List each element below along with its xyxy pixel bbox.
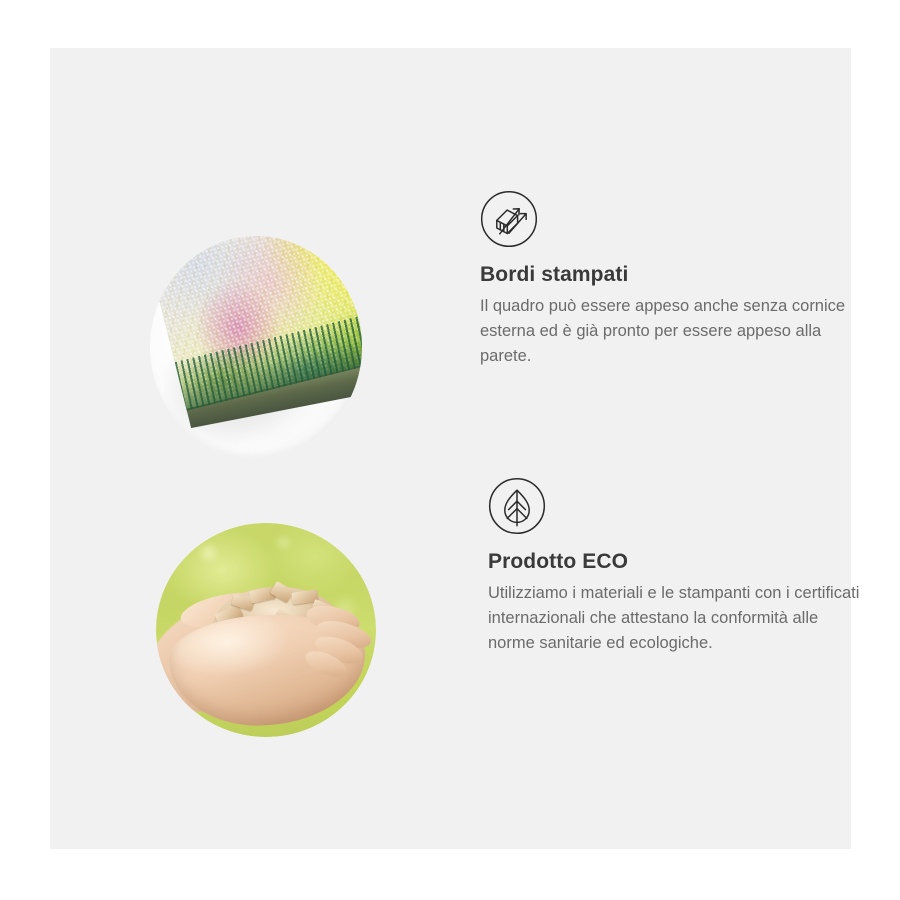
page-root: Bordi stampati Il quadro può essere appe… <box>0 0 900 900</box>
feature-title-printed-edges: Bordi stampati <box>480 262 852 287</box>
eco-wood-chips-image <box>156 523 376 737</box>
feature-text-column-eco-product: Prodotto ECO Utilizziamo i materiali e l… <box>488 477 860 656</box>
canvas-wrapped-edge-icon <box>480 190 538 248</box>
leaf-icon <box>488 477 546 535</box>
feature-block-eco-product: Prodotto ECO Utilizziamo i materiali e l… <box>153 477 860 737</box>
feature-title-eco-product: Prodotto ECO <box>488 549 860 574</box>
feature-description-printed-edges: Il quadro può essere appeso anche senza … <box>480 294 852 369</box>
feature-block-printed-edges: Bordi stampati Il quadro può essere appe… <box>150 190 852 458</box>
content-panel: Bordi stampati Il quadro può essere appe… <box>50 48 851 849</box>
feature-text-column-printed-edges: Bordi stampati Il quadro può essere appe… <box>480 190 852 369</box>
printed-canvas-corner-image <box>150 236 362 458</box>
feature-description-eco-product: Utilizziamo i materiali e le stampanti c… <box>488 581 860 656</box>
